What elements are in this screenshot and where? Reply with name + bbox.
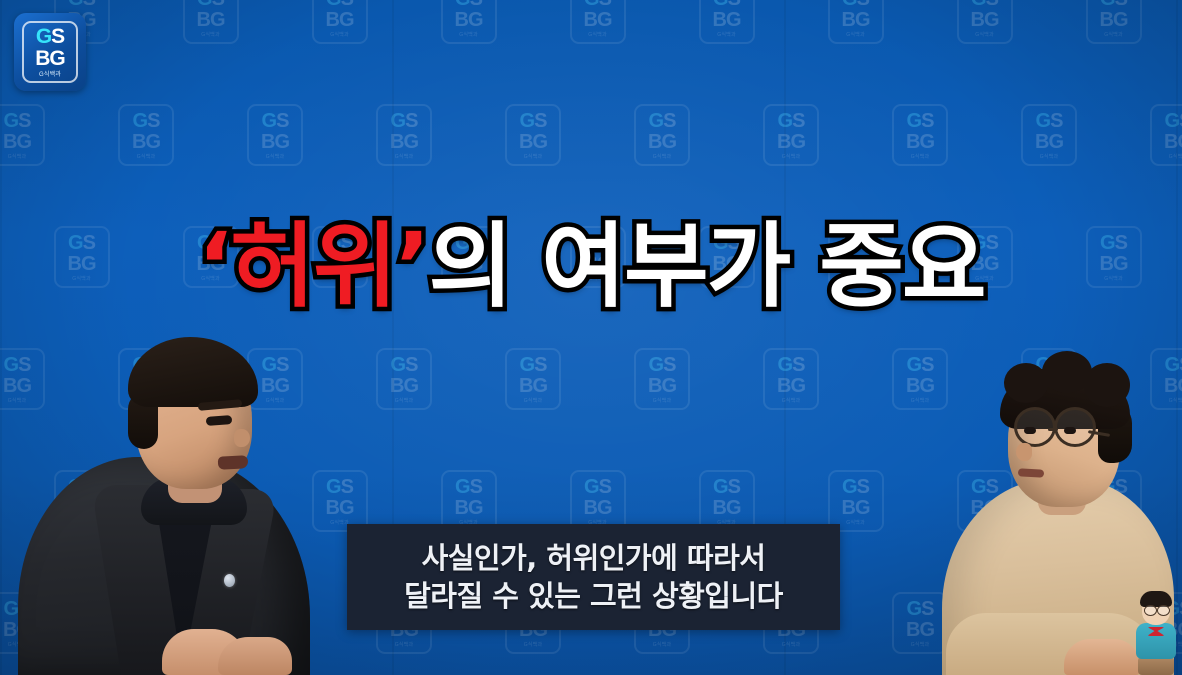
speaker-right-glasses-bridge bbox=[1048, 428, 1058, 431]
channel-logo-subtitle: G식백과 bbox=[39, 72, 61, 78]
speaker-right-hair-curl-three bbox=[1084, 363, 1130, 407]
subtitle-line-one: 사실인가, 허위인가에 따라서 bbox=[422, 541, 766, 575]
mascot-hair bbox=[1140, 591, 1172, 607]
speaker-left-nose bbox=[234, 429, 250, 447]
desk-mascot-figurine bbox=[1134, 591, 1178, 675]
speaker-right-eye-right bbox=[1064, 427, 1076, 434]
speaker-left-mouth bbox=[218, 455, 249, 470]
speaker-left-lapel-pin bbox=[224, 574, 235, 587]
speaker-left-eye bbox=[206, 415, 233, 426]
speaker-right-glasses-left-lens bbox=[1014, 407, 1056, 447]
mascot-glasses-right-lens bbox=[1157, 605, 1170, 616]
speaker-right-hand bbox=[1064, 639, 1140, 675]
headline-text: ‘허위’의 여부가 중요 bbox=[0, 216, 1182, 317]
subtitle-line-two: 달라질 수 있는 그런 상황입니다 bbox=[404, 579, 783, 613]
subtitle-caption: 사실인가, 허위인가에 따라서 달라질 수 있는 그런 상황입니다 bbox=[347, 524, 840, 630]
channel-logo-letter-s: S bbox=[51, 26, 64, 47]
mascot-glasses-left-lens bbox=[1144, 605, 1157, 616]
video-frame: GSBGG식백과GSBGG식백과GSBGG식백과GSBGG식백과GSBGG식백과… bbox=[0, 0, 1182, 675]
headline-segment-highlight: ‘허위’ bbox=[197, 213, 428, 320]
channel-logo-row-two: BG bbox=[35, 48, 65, 69]
speaker-left-hand-second bbox=[218, 637, 292, 675]
headline-segment-rest: 의 여부가 중요 bbox=[429, 213, 985, 320]
speaker-right-nose bbox=[1016, 443, 1032, 461]
speaker-right-eye-left bbox=[1024, 427, 1036, 434]
channel-logo-letter-g: G bbox=[36, 26, 51, 47]
channel-logo: GS BG G식백과 bbox=[14, 13, 86, 91]
channel-logo-row-one: GS bbox=[36, 26, 64, 47]
speaker-right-mouth bbox=[1018, 468, 1044, 477]
channel-logo-badge: GS BG G식백과 bbox=[22, 21, 78, 83]
speaker-right-glasses-right-lens bbox=[1054, 407, 1096, 447]
speaker-left bbox=[10, 385, 330, 675]
